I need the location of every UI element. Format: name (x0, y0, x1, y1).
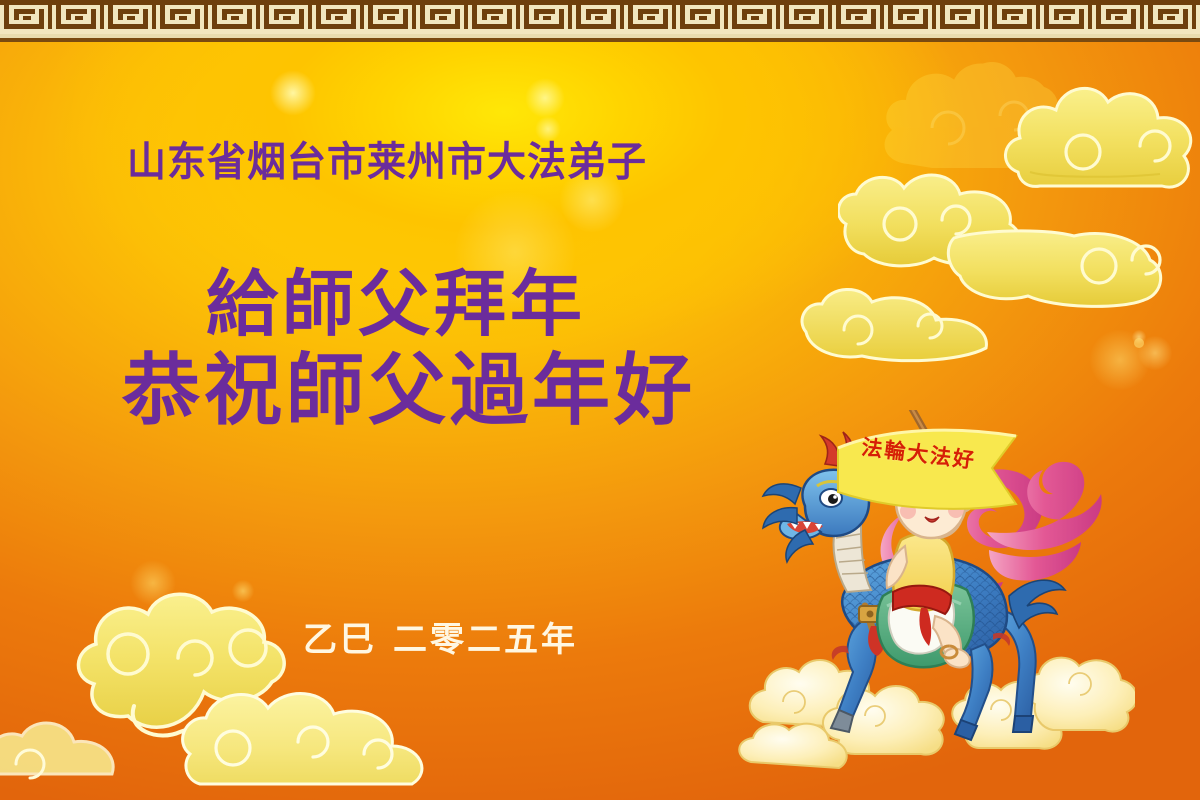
meander-tile (208, 0, 260, 34)
bokeh-glow-10 (1132, 330, 1146, 344)
bokeh-glow-9 (1138, 336, 1172, 370)
meander-tile (312, 0, 364, 34)
cloud-right-mid (838, 128, 1168, 338)
meander-tile (416, 0, 468, 34)
sender-line: 山东省烟台市莱州市大法弟子 (127, 140, 647, 187)
meander-tile (780, 0, 832, 34)
greeting-line-2: 恭祝師父過年好 (122, 352, 696, 430)
bokeh-glow-6 (130, 560, 176, 606)
meander-tile (936, 0, 988, 34)
meander-tile (1196, 0, 1200, 34)
greek-key-meander-border (0, 0, 1200, 42)
meander-tile (728, 0, 780, 34)
meander-tile (260, 0, 312, 34)
banner-pennant (826, 420, 1026, 520)
greeting-line-1: 給師父拜年 (206, 268, 586, 340)
meander-tile (988, 0, 1040, 34)
meander-tile (104, 0, 156, 34)
zodiac-year-label: 乙巳 (303, 620, 377, 660)
bokeh-glow-2 (525, 78, 565, 118)
meander-tile (624, 0, 676, 34)
bokeh-glow-7 (232, 580, 254, 602)
cloud-bottom-left-low (180, 672, 480, 800)
meander-tile (572, 0, 624, 34)
meander-tile (364, 0, 416, 34)
bokeh-glow-8 (1090, 330, 1150, 390)
cloud-bottom-left-edge (0, 700, 150, 800)
illustration-cloud-base (739, 658, 1135, 768)
meander-tile (52, 0, 104, 34)
meander-tile-row (0, 0, 1200, 34)
bokeh-glow-5 (455, 192, 575, 312)
meander-tile (468, 0, 520, 34)
meander-tile (832, 0, 884, 34)
meander-tile (0, 0, 52, 34)
meander-tile (1040, 0, 1092, 34)
bokeh-glow-1 (270, 70, 316, 116)
meander-tile (156, 0, 208, 34)
date-line: 乙巳二零二五年 (303, 612, 578, 661)
meander-tile (884, 0, 936, 34)
meander-tile (676, 0, 728, 34)
meander-tile (1144, 0, 1196, 34)
cloud-top-right-small (872, 36, 1112, 206)
cloud-top-right-large (1000, 60, 1200, 220)
gregorian-year-label: 二零二五年 (393, 620, 578, 660)
cloud-right-wisp (800, 268, 1100, 378)
meander-tile (1092, 0, 1144, 34)
bokeh-glow-11 (1134, 338, 1144, 348)
greeting-card: 山东省烟台市莱州市大法弟子 給師父拜年 恭祝師父過年好 乙巳二零二五年 (0, 0, 1200, 800)
cloud-bottom-left-large (62, 580, 382, 760)
meander-tile (520, 0, 572, 34)
